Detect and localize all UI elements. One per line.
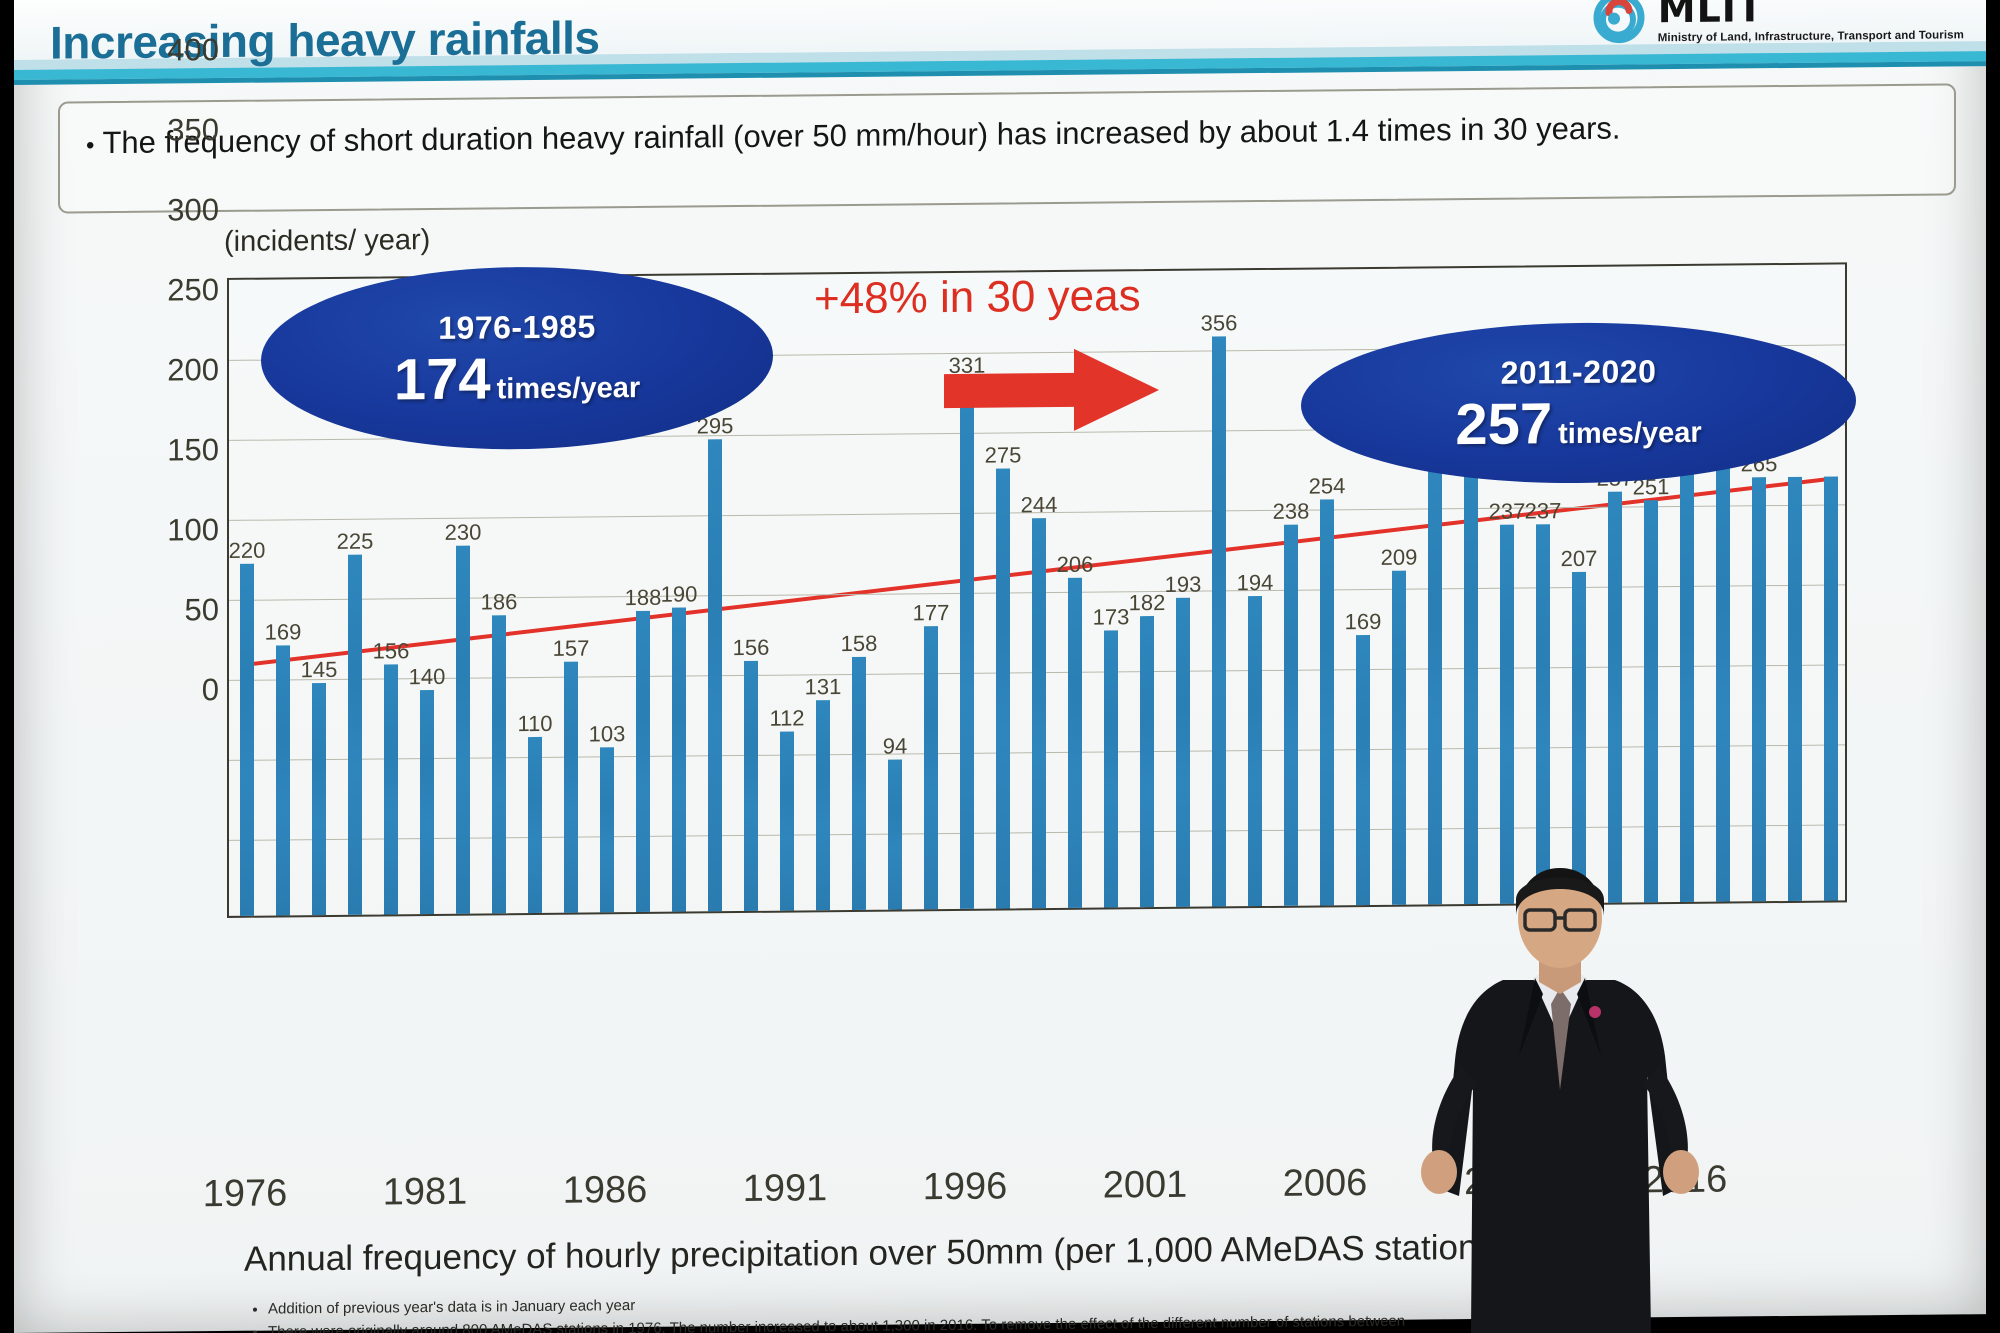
bar-value-label: 110 [517, 711, 552, 737]
callout-period: 1976-1985 [438, 308, 596, 347]
bar-value-label: 140 [409, 664, 446, 690]
bar [1608, 491, 1622, 902]
bar [636, 611, 650, 912]
bar-value-label: 238 [1273, 499, 1310, 525]
callout-value: 257times/year [1455, 393, 1701, 453]
x-tick-label: 1981 [383, 1171, 468, 1215]
bar [1464, 453, 1478, 904]
bar-value-label: 194 [1237, 570, 1274, 596]
bar-value-label: 145 [301, 657, 338, 683]
y-tick-label: 50 [129, 592, 219, 629]
bar-value-label: 156 [733, 635, 770, 661]
presentation-photo: Increasing heavy rainfalls MLIT Ministry… [0, 0, 2000, 1333]
bar [780, 731, 794, 910]
bar [1788, 477, 1802, 901]
x-tick-label: 1991 [743, 1167, 828, 1211]
bar-value-label: 220 [229, 538, 266, 564]
bar [1104, 631, 1118, 908]
callout-unit: times/year [1558, 416, 1702, 449]
bar-value-label: 177 [913, 600, 950, 626]
bar [1176, 598, 1190, 907]
bar-value-label: 225 [337, 529, 374, 555]
y-tick-label: 400 [129, 32, 219, 69]
bar-value-label: 209 [1381, 544, 1418, 570]
bar [1824, 476, 1838, 900]
y-tick-label: 350 [129, 112, 219, 149]
bar-value-label: 94 [883, 733, 907, 759]
bar-value-label: 112 [769, 705, 804, 731]
bar [1536, 524, 1550, 903]
bar [492, 616, 506, 914]
bar-value-label: 190 [661, 581, 698, 607]
bar-value-label: 182 [1129, 590, 1166, 616]
logo-subtitle: Ministry of Land, Infrastructure, Transp… [1658, 30, 1964, 44]
bar [672, 608, 686, 912]
bar [1752, 477, 1766, 901]
logo-wordmark: MLIT [1658, 0, 1964, 28]
bar-value-label: 173 [1093, 604, 1130, 630]
bullet-body: The frequency of short duration heavy ra… [102, 111, 1620, 161]
bar [1644, 501, 1658, 903]
bar-value-label: 254 [1309, 473, 1346, 499]
y-tick-label: 150 [129, 432, 219, 469]
bar-value-label: 169 [265, 619, 302, 645]
x-tick-label: 1976 [203, 1172, 288, 1216]
percent-increase-annotation: +48% in 30 yeas [814, 271, 1141, 324]
bar [1392, 570, 1406, 905]
bar-value-label: 157 [553, 635, 590, 661]
bar-value-label: 207 [1561, 546, 1598, 572]
y-axis-unit-label: (incidents/ year) [224, 224, 430, 259]
bar [960, 379, 974, 909]
bullet-callout-box: • The frequency of short duration heavy … [58, 83, 1956, 213]
bar-value-label: 275 [985, 442, 1022, 468]
bar-value-label: 131 [805, 674, 842, 700]
bar-value-label: 237 [1489, 498, 1526, 524]
x-tick-label: 1996 [923, 1165, 1008, 1209]
bar [1428, 464, 1442, 904]
bar-value-label: 193 [1165, 572, 1202, 598]
y-tick-label: 100 [129, 512, 219, 549]
bar [1572, 572, 1586, 903]
slide-header: Increasing heavy rainfalls MLIT Ministry… [14, 0, 1986, 78]
bar [816, 701, 830, 911]
bar [384, 665, 398, 915]
x-tick-label: 2001 [1103, 1164, 1188, 1208]
bar [312, 683, 326, 915]
bar [1212, 337, 1226, 907]
bar-value-label: 103 [589, 721, 626, 747]
x-tick-label: 1986 [563, 1169, 648, 1213]
bar-value-label: 186 [481, 590, 518, 616]
bullet-marker: • [86, 132, 94, 159]
red-arrow-icon [944, 344, 1164, 436]
bar [852, 657, 866, 910]
bar [528, 737, 542, 913]
bar [1716, 438, 1730, 902]
bar [600, 747, 614, 912]
bar [1284, 525, 1298, 906]
bar [1068, 578, 1082, 908]
bar [276, 645, 290, 916]
bar [456, 546, 470, 914]
bullet-text: • The frequency of short duration heavy … [86, 104, 1936, 166]
speaker-silhouette [1415, 860, 1705, 1333]
bar-value-label: 206 [1057, 552, 1094, 578]
bar [420, 690, 434, 914]
bar [888, 759, 902, 910]
bar [1680, 471, 1694, 902]
bar [240, 564, 254, 916]
bar [1032, 518, 1046, 909]
bar [996, 468, 1010, 908]
bar [1356, 635, 1370, 906]
bar-value-label: 169 [1345, 608, 1382, 634]
bar [1320, 499, 1334, 906]
callout-period: 2011-2020 [1501, 353, 1657, 391]
bar [708, 439, 722, 911]
bar [1500, 524, 1514, 903]
bar [348, 555, 362, 915]
x-axis-title: Annual frequency of hourly precipitation… [244, 1228, 1507, 1280]
callout-unit: times/year [497, 371, 641, 404]
y-tick-label: 200 [129, 352, 219, 389]
callout-value: 174times/year [394, 348, 640, 408]
bar [924, 626, 938, 909]
bar-value-label: 156 [373, 639, 410, 665]
bar-value-label: 230 [445, 520, 482, 546]
bar [564, 661, 578, 912]
bar-value-label: 188 [625, 585, 662, 611]
y-axis-ticks: 050100150200250300350400 [127, 50, 219, 691]
bar [744, 661, 758, 911]
bar-value-label: 158 [841, 631, 878, 657]
mlit-logo: MLIT Ministry of Land, Infrastructure, T… [1590, 0, 1964, 47]
callout-number: 257 [1455, 391, 1552, 457]
y-tick-label: 300 [129, 192, 219, 229]
bar [1248, 596, 1262, 907]
y-tick-label: 250 [129, 272, 219, 309]
bar-value-label: 356 [1201, 311, 1238, 337]
bar-value-label: 237 [1525, 498, 1562, 524]
callout-number: 174 [394, 346, 491, 412]
bar [1140, 616, 1154, 907]
bar-value-label: 244 [1021, 492, 1058, 518]
mlit-swirl-icon [1590, 0, 1648, 47]
y-tick-label: 0 [129, 672, 219, 709]
x-tick-label: 2006 [1283, 1162, 1368, 1206]
